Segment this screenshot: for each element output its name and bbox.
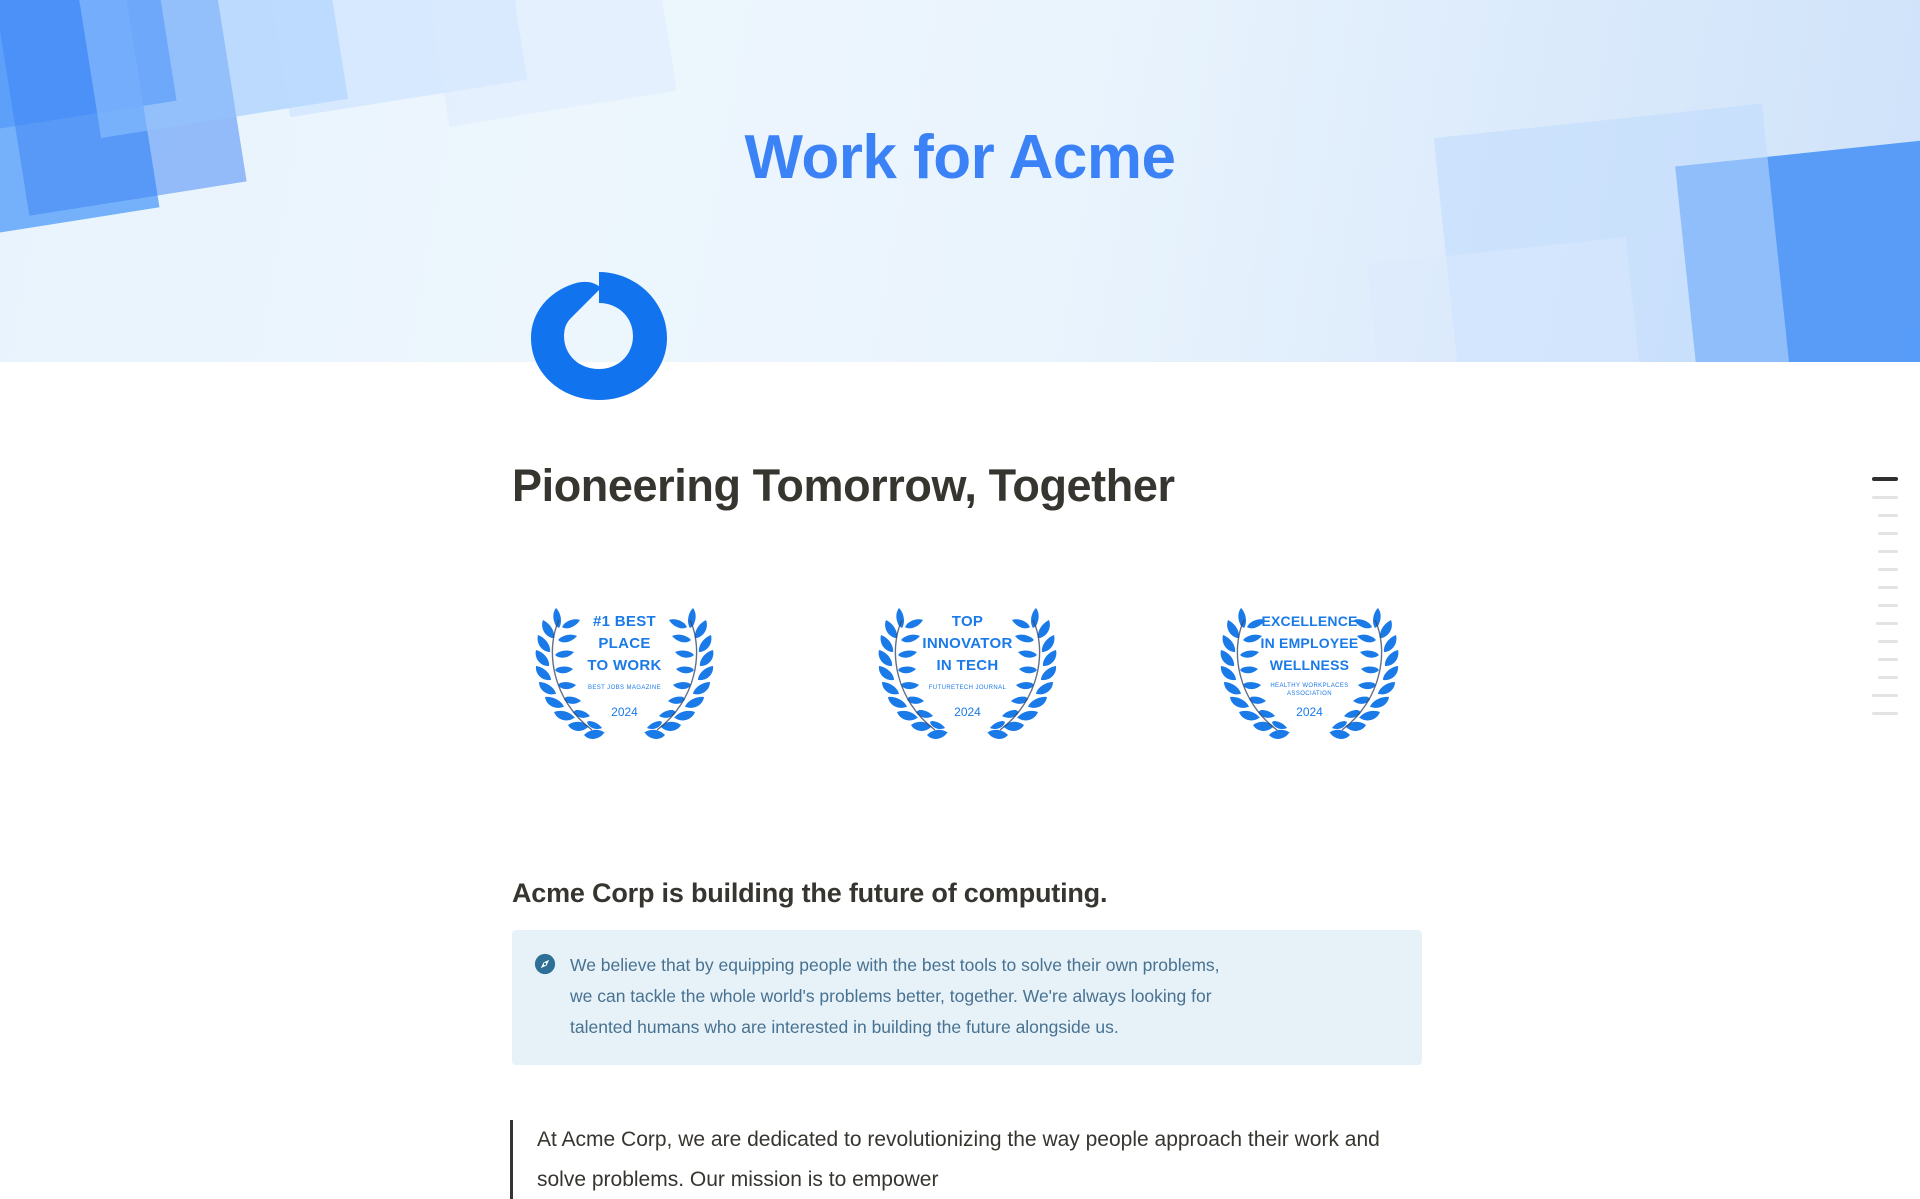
- award-badge: #1 BEST PLACE TO WORK BEST JOBS MAGAZINE…: [512, 580, 737, 745]
- minimap-row[interactable]: [1850, 542, 1898, 560]
- compass-icon: [534, 953, 556, 975]
- badge-year: 2024: [611, 705, 638, 719]
- badge-issuer-line-1: BEST JOBS MAGAZINE: [588, 685, 661, 691]
- minimap-row[interactable]: [1850, 686, 1898, 704]
- awards-badge-row: #1 BEST PLACE TO WORK BEST JOBS MAGAZINE…: [512, 580, 1422, 745]
- badge-line-3: WELLNESS: [1270, 657, 1349, 673]
- callout-block: We believe that by equipping people with…: [512, 930, 1422, 1065]
- minimap-bar: [1878, 550, 1898, 553]
- award-badge: TOP INNOVATOR IN TECH FUTURETECH JOURNAL…: [855, 580, 1080, 745]
- minimap-row[interactable]: [1850, 596, 1898, 614]
- minimap-bar: [1872, 496, 1898, 499]
- callout-text: We believe that by equipping people with…: [570, 950, 1242, 1043]
- badge-line-2: PLACE: [598, 635, 650, 652]
- badge-line-1: #1 BEST: [593, 613, 656, 630]
- page-root: Work for Acme Pioneering Tomorrow, Toget…: [0, 0, 1920, 1199]
- minimap-row[interactable]: [1850, 560, 1898, 578]
- minimap-bar: [1878, 604, 1898, 607]
- badge-issuer-line-1: HEALTHY WORKPLACES: [1270, 683, 1348, 689]
- badge-issuer-line-2: ASSOCIATION: [1287, 691, 1332, 697]
- badge-year: 2024: [1296, 705, 1323, 719]
- minimap-row[interactable]: [1850, 578, 1898, 596]
- minimap-bar: [1878, 514, 1898, 517]
- blockquote: At Acme Corp, we are dedicated to revolu…: [510, 1120, 1430, 1199]
- acme-spiral-logo-icon: [529, 270, 669, 402]
- minimap-bar: [1878, 658, 1898, 661]
- minimap-row[interactable]: [1850, 470, 1898, 488]
- minimap-row[interactable]: [1850, 704, 1898, 722]
- minimap-row[interactable]: [1850, 632, 1898, 650]
- minimap-bar: [1872, 712, 1898, 715]
- minimap-row[interactable]: [1850, 506, 1898, 524]
- minimap-row[interactable]: [1850, 614, 1898, 632]
- minimap-bar: [1878, 640, 1898, 643]
- badge-issuer-line-1: FUTURETECH JOURNAL: [928, 685, 1006, 691]
- badge-line-1: TOP: [951, 613, 982, 630]
- badge-line-3: IN TECH: [936, 657, 998, 674]
- hero-banner: Work for Acme: [0, 0, 1920, 362]
- minimap-bar: [1878, 532, 1898, 535]
- blockquote-text: At Acme Corp, we are dedicated to revolu…: [537, 1120, 1430, 1199]
- badge-line-2: INNOVATOR: [922, 635, 1012, 652]
- minimap-bar: [1878, 676, 1898, 679]
- minimap-row[interactable]: [1850, 650, 1898, 668]
- minimap-row[interactable]: [1850, 488, 1898, 506]
- minimap-row[interactable]: [1850, 668, 1898, 686]
- badge-year: 2024: [954, 705, 981, 719]
- minimap-bar: [1872, 694, 1898, 697]
- badge-line-3: TO WORK: [587, 657, 661, 674]
- badge-line-2: IN EMPLOYEE: [1261, 635, 1359, 651]
- section-subheading: Acme Corp is building the future of comp…: [512, 878, 1107, 909]
- minimap-row[interactable]: [1850, 524, 1898, 542]
- document-outline-minimap[interactable]: [1850, 470, 1898, 722]
- badge-line-1: EXCELLENCE: [1261, 613, 1357, 629]
- minimap-bar: [1878, 568, 1898, 571]
- decorative-square-6: [413, 0, 676, 127]
- page-title: Pioneering Tomorrow, Together: [512, 460, 1175, 512]
- award-badge: EXCELLENCE IN EMPLOYEE WELLNESS HEALTHY …: [1197, 580, 1422, 745]
- hero-title: Work for Acme: [0, 122, 1920, 193]
- decorative-square-9: [1367, 237, 1653, 362]
- minimap-bar: [1878, 586, 1898, 589]
- minimap-bar: [1876, 622, 1898, 625]
- minimap-bar: [1872, 477, 1898, 481]
